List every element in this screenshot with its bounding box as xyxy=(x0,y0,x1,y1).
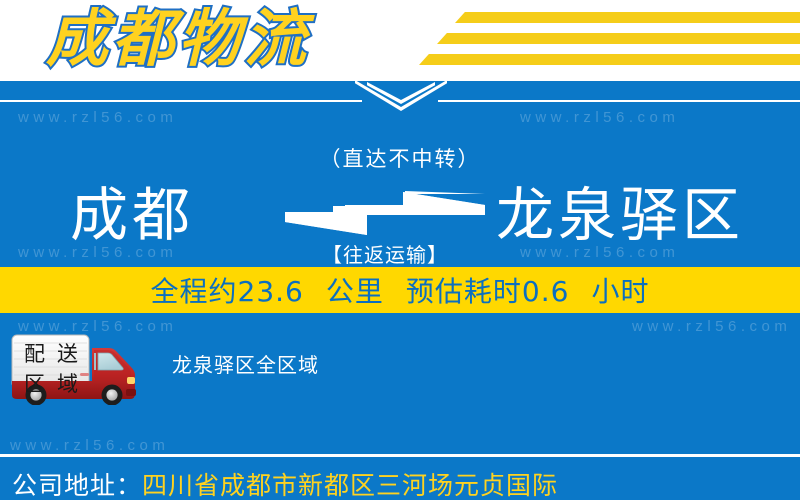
truck-box-char-4: 域 xyxy=(57,368,78,398)
roundtrip-label: 【往返运输】 xyxy=(285,239,485,268)
footer-divider xyxy=(0,454,800,457)
distance-text: 全程约23.6公里预估耗时0.6小时 xyxy=(151,270,650,310)
truck-box-char-3: 区 xyxy=(24,368,45,398)
duration-value: 预估耗时0.6 xyxy=(406,275,570,308)
divider-segment-right xyxy=(438,100,800,102)
watermark: www.rzl56.com xyxy=(18,109,177,126)
poster-body: www.rzl56.com www.rzl56.com www.rzl56.co… xyxy=(0,81,800,500)
stripe-3 xyxy=(419,54,800,65)
destination-city: 龙泉驿区 xyxy=(496,177,744,253)
company-address: 公司地址：四川省成都市新都区三河场元贞国际 xyxy=(12,466,558,500)
poster-header: 成都物流 xyxy=(0,0,800,81)
direct-shipping-label: （直达不中转） xyxy=(0,143,800,173)
watermark: www.rzl56.com xyxy=(520,109,679,126)
distance-bar: 全程约23.6公里预估耗时0.6小时 xyxy=(0,267,800,313)
origin-city: 成都 xyxy=(70,177,194,253)
watermark: www.rzl56.com xyxy=(632,318,791,335)
route-row: 成都 【往返运输】 龙泉驿区 xyxy=(0,177,800,253)
divider-segment-left xyxy=(0,100,362,102)
address-label: 公司地址： xyxy=(12,471,142,500)
stripe-2 xyxy=(437,33,800,44)
watermark: www.rzl56.com xyxy=(10,437,169,454)
double-chevron-down-icon xyxy=(355,81,447,114)
delivery-truck-icon: 配 送 区 域 xyxy=(8,333,158,405)
stripe-1 xyxy=(455,12,800,23)
page-title: 成都物流 xyxy=(46,4,310,74)
coverage-area-text: 龙泉驿区全区域 xyxy=(172,349,319,378)
logistics-poster: 成都物流 www.rzl56.com www.rzl56.com www.rzl… xyxy=(0,0,800,500)
duration-unit: 小时 xyxy=(591,275,649,308)
distance-value: 全程约23.6 xyxy=(151,275,304,308)
truck-box-char-2: 送 xyxy=(57,338,78,368)
truck-box-char-1: 配 xyxy=(24,338,45,368)
double-headed-arrow-icon xyxy=(285,191,485,237)
header-stripes-decoration xyxy=(420,12,800,70)
address-value: 四川省成都市新都区三河场元贞国际 xyxy=(142,471,558,500)
distance-unit: 公里 xyxy=(326,275,384,308)
